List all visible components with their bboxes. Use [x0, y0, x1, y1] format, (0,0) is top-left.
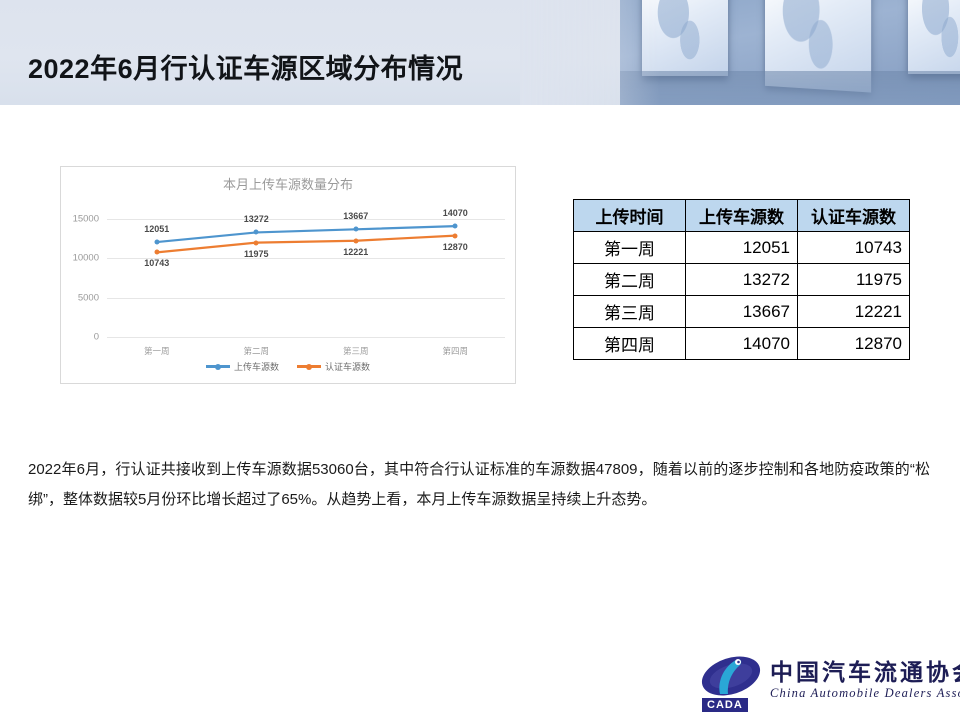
chart-title: 本月上传车源数量分布	[61, 174, 515, 193]
chart-x-tick-label: 第二周	[243, 345, 269, 357]
table-row: 第二周1327211975	[574, 264, 910, 296]
world-map-icon	[652, 0, 712, 63]
table-header-row: 上传时间 上传车源数 认证车源数	[574, 200, 910, 232]
table-cell-certified: 11975	[798, 264, 910, 296]
legend-item[interactable]: 上传车源数	[206, 360, 279, 373]
table-cell-certified: 12221	[798, 296, 910, 328]
table-cell-week: 第三周	[574, 296, 686, 328]
legend-item[interactable]: 认证车源数	[297, 360, 370, 373]
world-map-icon	[777, 0, 851, 74]
header-cube-2	[765, 0, 871, 93]
chart-legend: 上传车源数认证车源数	[61, 360, 515, 373]
legend-label: 上传车源数	[234, 360, 279, 373]
chart-data-point	[254, 230, 259, 235]
header-cube-3	[908, 0, 960, 74]
world-map-icon	[917, 0, 960, 61]
chart-x-tick-label: 第三周	[343, 345, 369, 357]
chart-data-point	[453, 233, 458, 238]
table-row: 第一周1205110743	[574, 232, 910, 264]
table-cell-week: 第二周	[574, 264, 686, 296]
header-image-fade	[520, 0, 660, 105]
legend-swatch-icon	[206, 365, 230, 368]
chart-data-label: 12051	[144, 224, 169, 234]
page-title: 2022年6月行认证车源区域分布情况	[28, 47, 463, 86]
chart-data-label: 12221	[343, 247, 368, 257]
logo-english-name: China Automobile Dealers Association	[770, 686, 960, 701]
chart-y-tick-label: 0	[94, 332, 99, 343]
legend-swatch-icon	[297, 365, 321, 368]
chart-x-tick-label: 第四周	[442, 345, 468, 357]
table-cell-uploaded: 13272	[686, 264, 798, 296]
table-header-certified-count: 认证车源数	[798, 200, 910, 232]
chart-data-label: 13667	[343, 211, 368, 221]
table-cell-week: 第一周	[574, 232, 686, 264]
table-cell-uploaded: 13667	[686, 296, 798, 328]
chart-x-tick-label: 第一周	[144, 345, 170, 357]
chart-data-label: 13272	[244, 214, 269, 224]
cada-badge: CADA	[702, 698, 748, 712]
table-row: 第四周1407012870	[574, 328, 910, 360]
chart-data-label: 10743	[144, 258, 169, 268]
chart-data-point	[154, 250, 159, 255]
weekly-data-table: 上传时间 上传车源数 认证车源数 第一周1205110743第二周1327211…	[573, 199, 910, 360]
legend-label: 认证车源数	[325, 360, 370, 373]
chart-y-tick-label: 5000	[78, 292, 99, 303]
chart-data-label: 12870	[443, 242, 468, 252]
chart-data-point	[254, 240, 259, 245]
table-header-upload-time: 上传时间	[574, 200, 686, 232]
chart-gridline: 0	[107, 337, 505, 338]
table-row: 第三周1366712221	[574, 296, 910, 328]
table-header-uploaded-count: 上传车源数	[686, 200, 798, 232]
table-cell-uploaded: 12051	[686, 232, 798, 264]
analysis-paragraph: 2022年6月，行认证共接收到上传车源数据53060台，其中符合行认证标准的车源…	[28, 455, 930, 515]
header-decorative-image	[620, 0, 960, 105]
table-cell-certified: 10743	[798, 232, 910, 264]
table-cell-uploaded: 14070	[686, 328, 798, 360]
logo-chinese-name: 中国汽车流通协会	[770, 653, 960, 687]
chart-y-tick-label: 10000	[73, 253, 99, 264]
table-cell-certified: 12870	[798, 328, 910, 360]
cada-logo: CADA 中国汽车流通协会 China Automobile Dealers A…	[700, 650, 950, 712]
chart-data-point	[154, 240, 159, 245]
chart-plot-area: 150001000050000第一周第二周第三周第四周1205113272136…	[107, 207, 505, 337]
chart-data-label: 14070	[443, 208, 468, 218]
chart-data-point	[353, 238, 358, 243]
chart-data-label: 11975	[244, 249, 269, 259]
chart-data-point	[453, 224, 458, 229]
line-chart: 本月上传车源数量分布 150001000050000第一周第二周第三周第四周12…	[60, 166, 516, 384]
chart-data-point	[353, 227, 358, 232]
table-cell-week: 第四周	[574, 328, 686, 360]
chart-y-tick-label: 15000	[73, 213, 99, 224]
